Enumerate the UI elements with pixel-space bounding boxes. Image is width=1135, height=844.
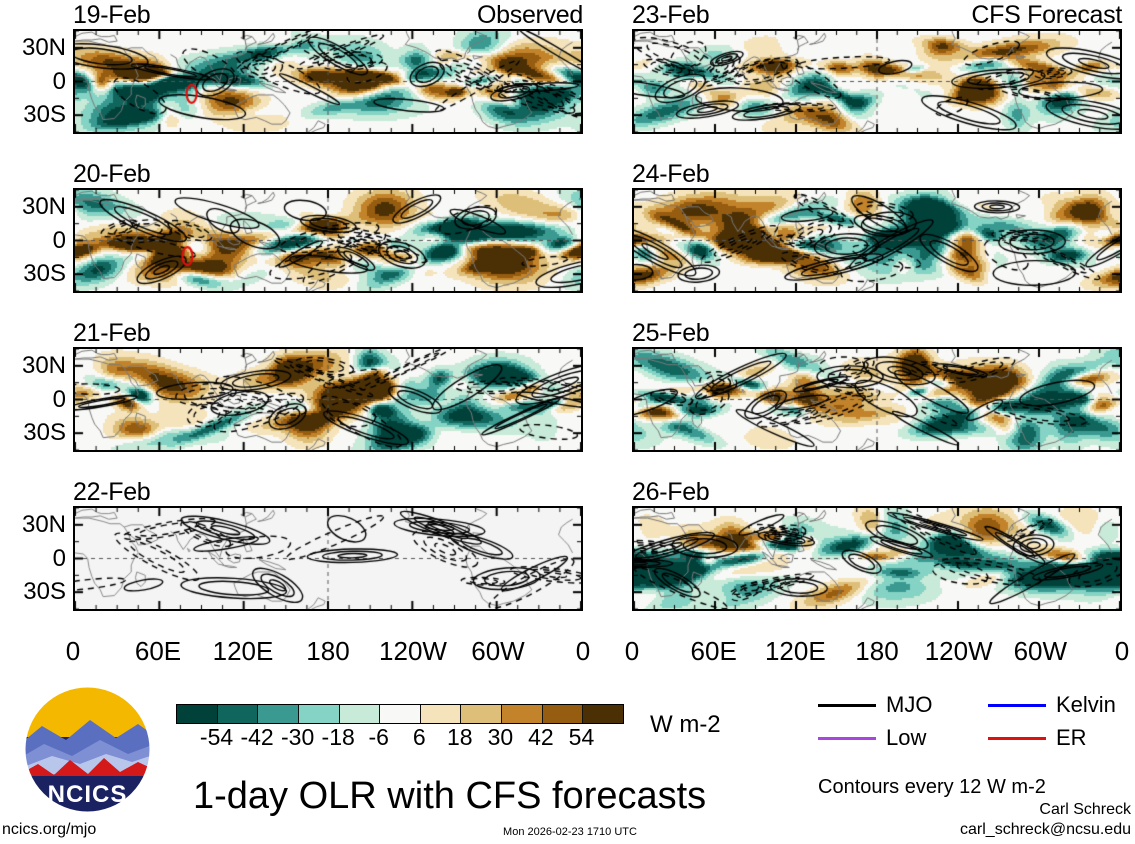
contour-interval-note: Contours every 12 W m-2 — [818, 777, 1046, 797]
colorbar-swatch — [218, 705, 259, 723]
panel-date-label: 24-Feb — [632, 162, 709, 187]
x-axis-label: 60W — [1014, 636, 1067, 666]
x-axis-label: 60E — [135, 636, 181, 666]
column-header-label: Observed — [477, 3, 583, 28]
y-axis-label: 0 — [0, 229, 66, 253]
x-axis-label: 60W — [471, 636, 524, 666]
y-axis-label: 30N — [0, 513, 66, 537]
colorbar-swatch — [421, 705, 462, 723]
colorbar-swatch — [177, 705, 218, 723]
panel-25-feb: 25-Feb — [632, 321, 1122, 452]
panel-21-feb: 21-Feb — [73, 321, 583, 452]
y-axis-label: 0 — [0, 70, 66, 94]
figure-title: 1-day OLR with CFS forecasts — [193, 777, 706, 815]
map-25-feb — [632, 347, 1122, 452]
panel-date-label: 21-Feb — [73, 321, 150, 346]
panel-date-label: 23-Feb — [632, 3, 709, 28]
colorbar-swatch — [583, 705, 623, 723]
map-23-feb — [632, 29, 1122, 134]
x-axis-label: 0 — [625, 636, 639, 666]
legend-label: ER — [1056, 727, 1087, 749]
author-email: carl_schreck@ncsu.edu — [933, 822, 1131, 838]
legend-label: MJO — [886, 694, 932, 716]
ncics-logo: NCICS — [20, 682, 155, 817]
y-axis-label: 30S — [0, 103, 66, 127]
x-axis-label: 60E — [691, 636, 737, 666]
colorbar-tick-label: -54 — [200, 726, 233, 749]
x-axis-label: 180 — [306, 636, 349, 666]
colorbar-swatch — [543, 705, 584, 723]
colorbar — [176, 704, 624, 724]
legend-item-low: Low — [818, 727, 926, 749]
panel-date-label: 20-Feb — [73, 162, 150, 187]
colorbar-swatch — [461, 705, 502, 723]
panel-24-feb: 24-Feb — [632, 162, 1122, 293]
legend-line-swatch — [988, 704, 1046, 707]
colorbar-swatch — [258, 705, 299, 723]
legend-line-swatch — [988, 737, 1046, 740]
colorbar-tick-label: 30 — [488, 726, 514, 749]
map-21-feb — [73, 347, 583, 452]
x-axis-left: 060E120E180120W60W0 — [73, 636, 583, 666]
panel-23-feb: 23-FebCFS Forecast — [632, 3, 1122, 134]
panel-date-label: 25-Feb — [632, 321, 709, 346]
legend-line-swatch — [818, 704, 876, 707]
colorbar-tick-label: 18 — [447, 726, 473, 749]
olr-field-canvas — [634, 190, 1120, 291]
olr-field-canvas — [634, 349, 1120, 450]
olr-field-canvas — [75, 508, 581, 609]
colorbar-tick-label: 42 — [528, 726, 554, 749]
colorbar-swatch — [502, 705, 543, 723]
y-axis-label: 30N — [0, 354, 66, 378]
map-20-feb — [73, 188, 583, 293]
x-axis-label: 0 — [1115, 636, 1129, 666]
y-axis-label: 30S — [0, 262, 66, 286]
olr-field-canvas — [634, 31, 1120, 132]
column-header-label: CFS Forecast — [971, 3, 1122, 28]
y-axis-label: 30N — [0, 195, 66, 219]
olr-field-canvas — [75, 349, 581, 450]
map-22-feb — [73, 506, 583, 611]
panel-20-feb: 20-Feb — [73, 162, 583, 293]
svg-text:NCICS: NCICS — [48, 781, 128, 808]
legend-label: Kelvin — [1056, 694, 1116, 716]
colorbar-swatch — [380, 705, 421, 723]
x-axis-label: 120E — [213, 636, 274, 666]
y-axis-label: 30S — [0, 580, 66, 604]
map-26-feb — [632, 506, 1122, 611]
y-axis-label: 0 — [0, 547, 66, 571]
y-axis-label: 0 — [0, 388, 66, 412]
legend-item-er: ER — [988, 727, 1087, 749]
colorbar-swatch — [340, 705, 381, 723]
legend-line-swatch — [818, 737, 876, 740]
panel-date-label: 19-Feb — [73, 3, 150, 28]
x-axis-label: 120E — [765, 636, 826, 666]
colorbar-tick-label: -42 — [240, 726, 273, 749]
panel-date-label: 22-Feb — [73, 480, 150, 505]
olr-field-canvas — [75, 31, 581, 132]
colorbar-tick-label: -18 — [322, 726, 355, 749]
map-24-feb — [632, 188, 1122, 293]
timestamp-label: Mon 2026-02-23 1710 UTC — [503, 827, 637, 838]
map-19-feb — [73, 29, 583, 134]
legend-item-mjo: MJO — [818, 694, 932, 716]
legend-label: Low — [886, 727, 926, 749]
x-axis-label: 0 — [576, 636, 590, 666]
x-axis-label: 120W — [925, 636, 993, 666]
x-axis-label: 120W — [379, 636, 447, 666]
panel-date-label: 26-Feb — [632, 480, 709, 505]
y-axis-label: 30S — [0, 421, 66, 445]
panel-19-feb: 19-FebObserved — [73, 3, 583, 134]
x-axis-label: 180 — [855, 636, 898, 666]
panel-22-feb: 22-Feb — [73, 480, 583, 611]
legend-item-kelvin: Kelvin — [988, 694, 1116, 716]
colorbar-swatch — [299, 705, 340, 723]
colorbar-tick-label: 6 — [413, 726, 426, 749]
x-axis-right: 060E120E180120W60W0 — [632, 636, 1122, 666]
colorbar-tick-label: -6 — [368, 726, 388, 749]
panel-26-feb: 26-Feb — [632, 480, 1122, 611]
colorbar-tick-label: 54 — [569, 726, 595, 749]
olr-field-canvas — [75, 190, 581, 291]
colorbar-units-label: W m-2 — [650, 713, 721, 737]
olr-field-canvas — [634, 508, 1120, 609]
colorbar-tick-labels: -54-42-30-18-6618304254 — [176, 726, 622, 752]
author-name: Carl Schreck — [933, 802, 1131, 818]
x-axis-label: 0 — [66, 636, 80, 666]
colorbar-tick-label: -30 — [281, 726, 314, 749]
y-axis-label: 30N — [0, 36, 66, 60]
site-url-label: ncics.org/mjo — [2, 822, 96, 838]
